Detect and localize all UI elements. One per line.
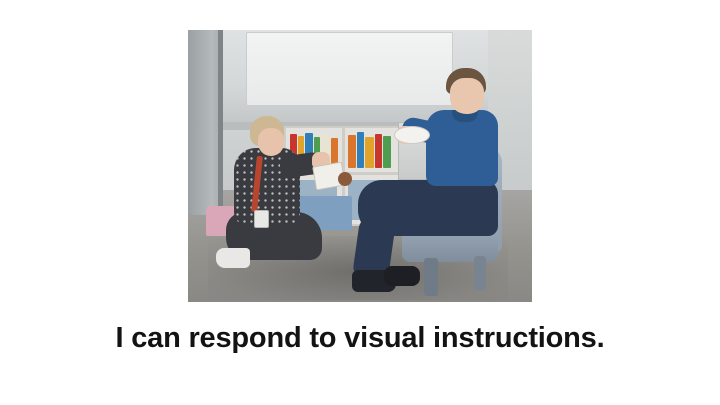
book bbox=[383, 136, 391, 168]
classroom-photo bbox=[188, 30, 532, 302]
caption-text: I can respond to visual instructions. bbox=[0, 322, 720, 355]
slide: I can respond to visual instructions. bbox=[0, 0, 720, 405]
door bbox=[188, 30, 222, 215]
book bbox=[375, 134, 382, 168]
child-face bbox=[450, 78, 484, 114]
child-shoe bbox=[384, 266, 420, 286]
whiteboard bbox=[246, 32, 453, 106]
white-plate bbox=[394, 126, 430, 144]
book bbox=[357, 132, 364, 168]
book bbox=[348, 135, 356, 168]
support-chair-leg bbox=[424, 258, 438, 296]
support-chair-leg bbox=[474, 256, 486, 290]
adult-shoe bbox=[216, 248, 250, 268]
wooden-prop bbox=[338, 172, 352, 186]
book bbox=[365, 137, 374, 168]
adult-id-badge bbox=[254, 210, 269, 228]
door-edge bbox=[218, 30, 223, 215]
photo-frame bbox=[188, 30, 532, 302]
adult-face bbox=[258, 128, 284, 156]
